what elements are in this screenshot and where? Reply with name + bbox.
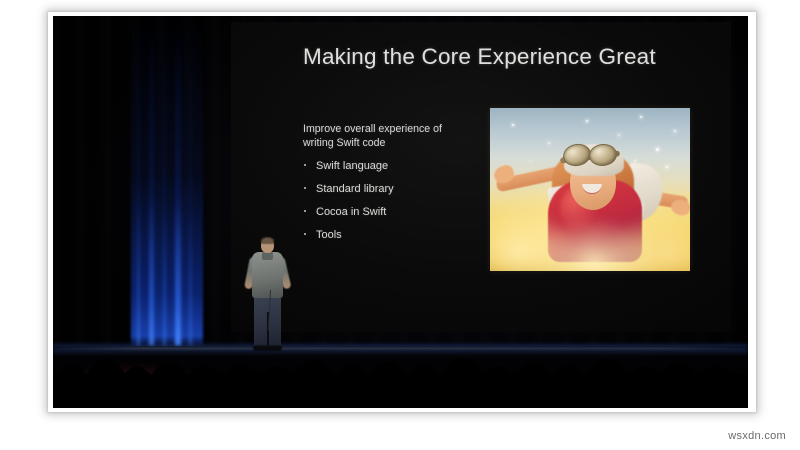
bullet-label: Standard library bbox=[316, 183, 394, 195]
list-item: Standard library bbox=[303, 182, 483, 205]
presenter-collar bbox=[262, 252, 273, 260]
screenshot-root: Making the Core Experience Great Improve… bbox=[0, 0, 800, 450]
curtain-glow bbox=[131, 16, 203, 346]
keynote-photo: Making the Core Experience Great Improve… bbox=[53, 16, 748, 408]
curtain-stripe bbox=[163, 42, 166, 346]
curtain-stripe bbox=[189, 56, 192, 346]
list-item: Tools bbox=[303, 228, 483, 251]
slide-illustration bbox=[490, 108, 690, 271]
curtain-stripe bbox=[137, 16, 140, 346]
list-item: Swift language bbox=[303, 159, 483, 182]
watermark: wsxdn.com bbox=[728, 430, 786, 442]
presenter-hair bbox=[261, 237, 274, 244]
audience-shoulders bbox=[53, 374, 748, 408]
slide-bullet-list: Swift language Standard library Cocoa in… bbox=[303, 159, 483, 251]
curtain-stripe bbox=[149, 16, 154, 346]
list-item: Cocoa in Swift bbox=[303, 205, 483, 228]
slide-intro-text: Improve overall experience of writing Sw… bbox=[303, 122, 463, 151]
curtain-stripe bbox=[175, 16, 181, 346]
bullet-dot-icon bbox=[304, 164, 306, 166]
blue-lit-curtain bbox=[131, 16, 203, 346]
bullet-label: Cocoa in Swift bbox=[316, 206, 386, 218]
slide-title: Making the Core Experience Great bbox=[303, 44, 723, 70]
bullet-dot-icon bbox=[304, 187, 306, 189]
bullet-dot-icon bbox=[304, 210, 306, 212]
golden-clouds bbox=[490, 180, 690, 271]
audience-silhouettes bbox=[53, 346, 748, 408]
bullet-dot-icon bbox=[304, 233, 306, 235]
presenter-figure bbox=[239, 238, 295, 356]
projected-slide: Making the Core Experience Great Improve… bbox=[231, 22, 731, 332]
slide-body: Improve overall experience of writing Sw… bbox=[303, 122, 483, 251]
bullet-label: Tools bbox=[316, 229, 342, 241]
bullet-label: Swift language bbox=[316, 160, 388, 172]
